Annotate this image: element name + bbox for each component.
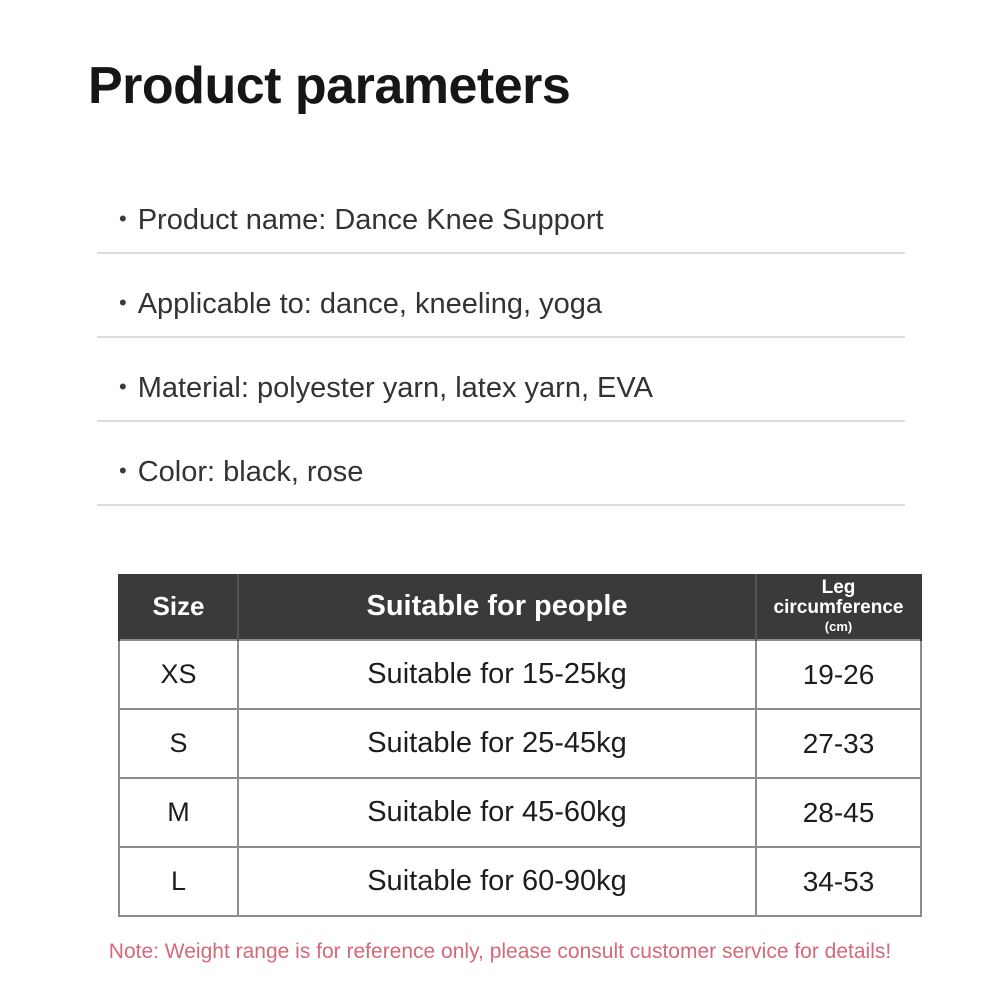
leg-circumference-line-2: circumference xyxy=(774,597,904,618)
table-row: L Suitable for 60-90kg 34-53 xyxy=(119,847,921,916)
page-title: Product parameters xyxy=(88,58,570,115)
cell-suitable-for-people: Suitable for 45-60kg xyxy=(238,778,756,847)
spec-row-product-name: • Product name: Dance Knee Support xyxy=(97,170,905,254)
size-chart-table: Size Suitable for people Leg circumferen… xyxy=(118,574,922,917)
spec-text-applicable-to: Applicable to: dance, kneeling, yoga xyxy=(138,287,602,322)
cell-leg-circumference: 27-33 xyxy=(756,709,921,778)
cell-leg-circumference: 19-26 xyxy=(756,640,921,709)
leg-circumference-line-1: Leg xyxy=(822,577,856,598)
spec-line: • Applicable to: dance, kneeling, yoga xyxy=(119,287,602,322)
cell-size: M xyxy=(119,778,238,847)
column-header-suitable-for-people: Suitable for people xyxy=(238,574,756,640)
table-header-row: Size Suitable for people Leg circumferen… xyxy=(119,574,921,640)
bullet-icon: • xyxy=(119,208,127,230)
spec-text-material: Material: polyester yarn, latex yarn, EV… xyxy=(138,371,653,406)
spec-text-product-name: Product name: Dance Knee Support xyxy=(138,203,604,238)
size-chart-note: Note: Weight range is for reference only… xyxy=(0,940,1000,964)
spec-list: • Product name: Dance Knee Support • App… xyxy=(97,170,905,506)
cell-leg-circumference: 28-45 xyxy=(756,778,921,847)
bullet-icon: • xyxy=(119,376,127,398)
column-header-size: Size xyxy=(119,574,238,640)
table-row: M Suitable for 45-60kg 28-45 xyxy=(119,778,921,847)
size-chart-body: XS Suitable for 15-25kg 19-26 S Suitable… xyxy=(119,640,921,916)
column-header-leg-circumference: Leg circumference (cm) xyxy=(756,574,921,640)
cell-suitable-for-people: Suitable for 25-45kg xyxy=(238,709,756,778)
bullet-icon: • xyxy=(119,292,127,314)
cell-suitable-for-people: Suitable for 15-25kg xyxy=(238,640,756,709)
size-chart-header: Size Suitable for people Leg circumferen… xyxy=(119,574,921,640)
spec-line: • Product name: Dance Knee Support xyxy=(119,203,604,238)
cell-leg-circumference: 34-53 xyxy=(756,847,921,916)
bullet-icon: • xyxy=(119,460,127,482)
leg-circumference-unit: (cm) xyxy=(761,619,916,635)
table-row: XS Suitable for 15-25kg 19-26 xyxy=(119,640,921,709)
spec-text-color: Color: black, rose xyxy=(138,455,364,490)
cell-size: S xyxy=(119,709,238,778)
table-row: S Suitable for 25-45kg 27-33 xyxy=(119,709,921,778)
spec-row-applicable-to: • Applicable to: dance, kneeling, yoga xyxy=(97,254,905,338)
cell-size: L xyxy=(119,847,238,916)
cell-size: XS xyxy=(119,640,238,709)
spec-row-color: • Color: black, rose xyxy=(97,422,905,506)
spec-row-material: • Material: polyester yarn, latex yarn, … xyxy=(97,338,905,422)
spec-line: • Color: black, rose xyxy=(119,455,363,490)
spec-line: • Material: polyester yarn, latex yarn, … xyxy=(119,371,653,406)
product-parameters-page: Product parameters • Product name: Dance… xyxy=(0,0,1000,1000)
cell-suitable-for-people: Suitable for 60-90kg xyxy=(238,847,756,916)
